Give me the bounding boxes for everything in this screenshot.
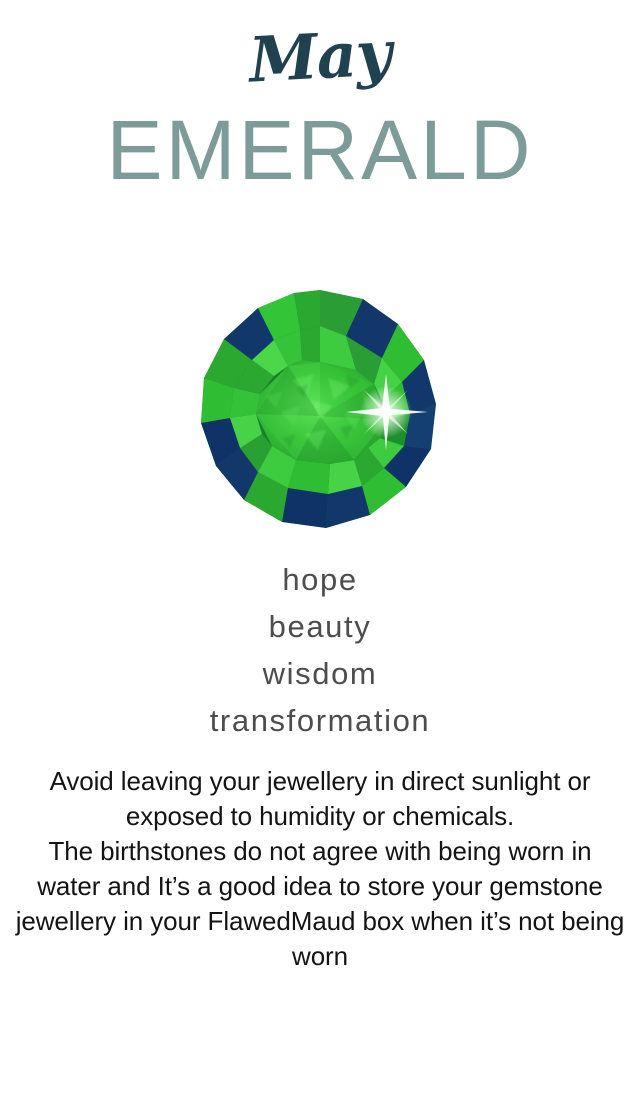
care-instructions: Avoid leaving your jewellery in direct s… [14, 764, 626, 974]
gemstone-image [196, 288, 444, 536]
care-paragraph: The birthstones do not agree with being … [14, 834, 626, 974]
keyword-list: hope beauty wisdom transformation [0, 556, 640, 744]
keyword-item: wisdom [0, 650, 640, 697]
emerald-gem-icon [196, 288, 444, 536]
care-paragraph: Avoid leaving your jewellery in direct s… [14, 764, 626, 834]
stone-name-title: EMERALD [0, 108, 640, 192]
month-title: May [0, 9, 640, 104]
keyword-item: transformation [0, 697, 640, 744]
keyword-item: hope [0, 556, 640, 603]
birthstone-card: May EMERALD [0, 0, 640, 1120]
keyword-item: beauty [0, 603, 640, 650]
